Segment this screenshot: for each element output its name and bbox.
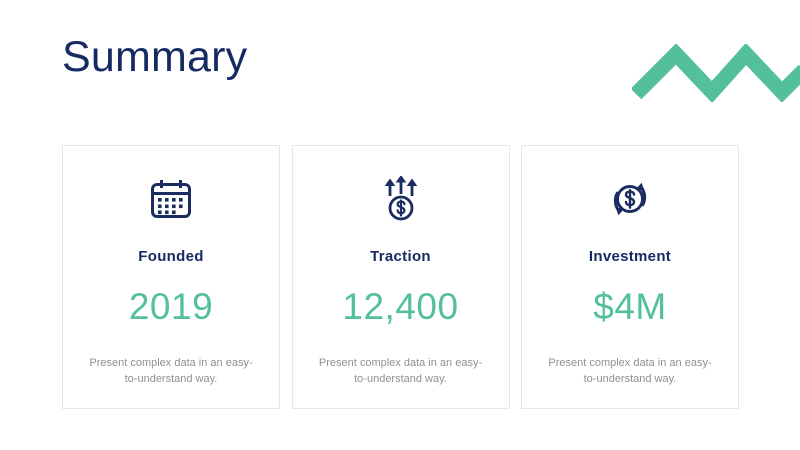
stat-card-value: 12,400 bbox=[342, 288, 458, 325]
stat-card-value: $4M bbox=[593, 288, 666, 325]
calendar-icon bbox=[149, 172, 193, 226]
stat-cards-row: Founded 2019 Present complex data in an … bbox=[62, 145, 739, 409]
stat-card-investment[interactable]: Investment $4M Present complex data in a… bbox=[521, 145, 739, 409]
stat-card-label: Founded bbox=[138, 248, 203, 265]
stat-card-description: Present complex data in an easy-to-under… bbox=[84, 356, 259, 388]
stat-card-value: 2019 bbox=[129, 288, 213, 325]
dollar-refresh-cycle-icon bbox=[607, 172, 653, 226]
stat-card-label: Traction bbox=[370, 248, 431, 265]
stat-card-description: Present complex data in an easy-to-under… bbox=[313, 356, 488, 388]
summary-slide: Summary bbox=[0, 0, 800, 450]
page-title: Summary bbox=[62, 36, 247, 79]
stat-card-description: Present complex data in an easy-to-under… bbox=[543, 356, 718, 388]
money-growth-arrows-icon bbox=[379, 172, 423, 226]
stat-card-founded[interactable]: Founded 2019 Present complex data in an … bbox=[62, 145, 280, 409]
stat-card-label: Investment bbox=[589, 248, 671, 265]
stat-card-traction[interactable]: Traction 12,400 Present complex data in … bbox=[292, 145, 510, 409]
zigzag-chevron-graphic bbox=[632, 44, 800, 102]
